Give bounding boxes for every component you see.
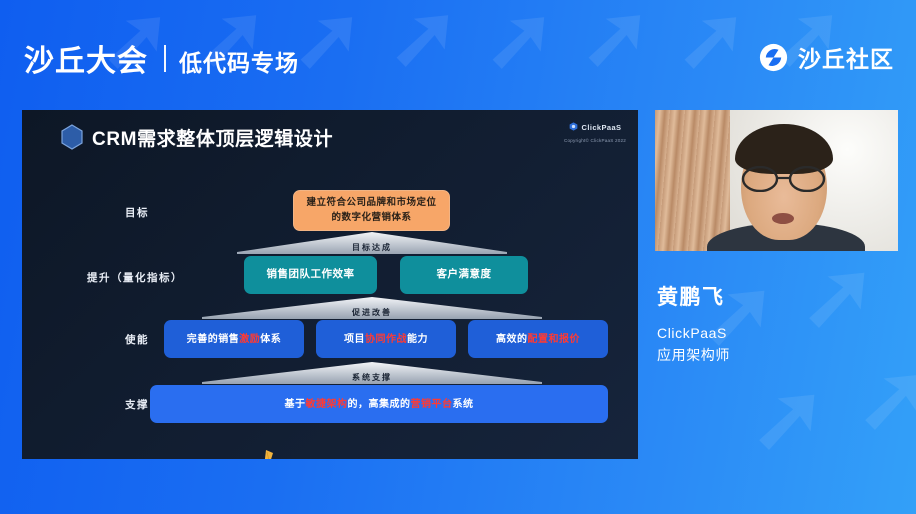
enable-box-2-highlight: 配置和报价: [528, 334, 581, 345]
band-improvement: 促进改善: [202, 297, 542, 319]
enable-box-1[interactable]: 项目协同作战能力: [316, 320, 456, 358]
brand-left: 沙丘大会 低代码专场: [24, 36, 299, 80]
enable-box-1-post: 能力: [407, 334, 428, 345]
enable-box-0[interactable]: 完善的销售激励体系: [164, 320, 304, 358]
brand-right-label: 沙丘社区: [798, 40, 894, 74]
row-label-metrics: 提升（量化指标）: [60, 270, 210, 285]
pencil-cursor-icon: [263, 450, 276, 459]
speaker-company: ClickPaaS: [657, 323, 907, 345]
speaker-info: 黄鹏飞 ClickPaaS 应用架构师: [657, 281, 907, 366]
support-box-highlight-2: 营销平台: [411, 399, 453, 410]
band-label: 目标达成: [237, 242, 507, 253]
support-box-highlight-1: 敏捷架构: [306, 399, 348, 410]
enable-box-1-pre: 项目: [344, 334, 365, 345]
brand-divider: [164, 45, 166, 72]
sandhill-s-logo-icon: [759, 43, 788, 72]
support-box-pre: 基于: [285, 399, 306, 410]
page-header: 沙丘大会 低代码专场 沙丘社区: [0, 0, 916, 104]
goal-box-line1: 建立符合公司品牌和市场定位: [306, 196, 436, 210]
speaker-name: 黄鹏飞: [657, 281, 907, 311]
enable-box-2[interactable]: 高效的配置和报价: [468, 320, 608, 358]
band-system-support: 系统支撑: [202, 362, 542, 384]
speaker-video-feed[interactable]: [655, 110, 898, 251]
arrow-watermark: ➚: [750, 372, 827, 464]
clickpaas-hexagon-icon: [569, 118, 578, 136]
speaker-role: 应用架构师: [657, 345, 907, 367]
brand-subtitle: 低代码专场: [179, 44, 299, 78]
goal-box-line2: 的数字化营销体系: [306, 211, 436, 225]
slide-header: CRM需求整体顶层逻辑设计 ClickPaaS Copyright© Click…: [22, 110, 638, 158]
metric-box-0[interactable]: 销售团队工作效率: [244, 256, 377, 294]
video-background-wall: [655, 110, 735, 251]
enable-box-0-pre: 完善的销售: [187, 334, 240, 345]
brand-right: 沙丘社区: [759, 40, 894, 74]
vendor-logo-label: ClickPaaS: [582, 123, 622, 132]
glasses-icon: [735, 166, 833, 192]
speaker-mouth: [772, 213, 794, 224]
support-box[interactable]: 基于敏捷架构的，高集成的营销平台系统: [150, 385, 608, 423]
metric-box-1[interactable]: 客户满意度: [400, 256, 528, 294]
presentation-slide[interactable]: CRM需求整体顶层逻辑设计 ClickPaaS Copyright© Click…: [22, 110, 638, 459]
enable-box-0-highlight: 激励: [239, 334, 260, 345]
band-goal-achievement: 目标达成: [237, 232, 507, 254]
enable-box-2-pre: 高效的: [496, 334, 528, 345]
band-label: 系统支撑: [202, 372, 542, 383]
brand-title: 沙丘大会: [24, 36, 148, 80]
copyright-text: Copyright© ClickPaaS 2022: [564, 138, 626, 143]
row-label-goal: 目标: [82, 205, 192, 220]
enable-box-1-highlight: 协同作战: [365, 334, 407, 345]
hexagon-icon: [60, 124, 84, 150]
support-box-mid: 的，高集成的: [348, 399, 411, 410]
enable-box-0-post: 体系: [260, 334, 281, 345]
support-box-post: 系统: [453, 399, 474, 410]
band-label: 促进改善: [202, 307, 542, 318]
goal-box[interactable]: 建立符合公司品牌和市场定位 的数字化营销体系: [293, 190, 450, 231]
slide-title: CRM需求整体顶层逻辑设计: [92, 124, 333, 151]
vendor-logo-block: ClickPaaS Copyright© ClickPaaS 2022: [564, 118, 626, 143]
